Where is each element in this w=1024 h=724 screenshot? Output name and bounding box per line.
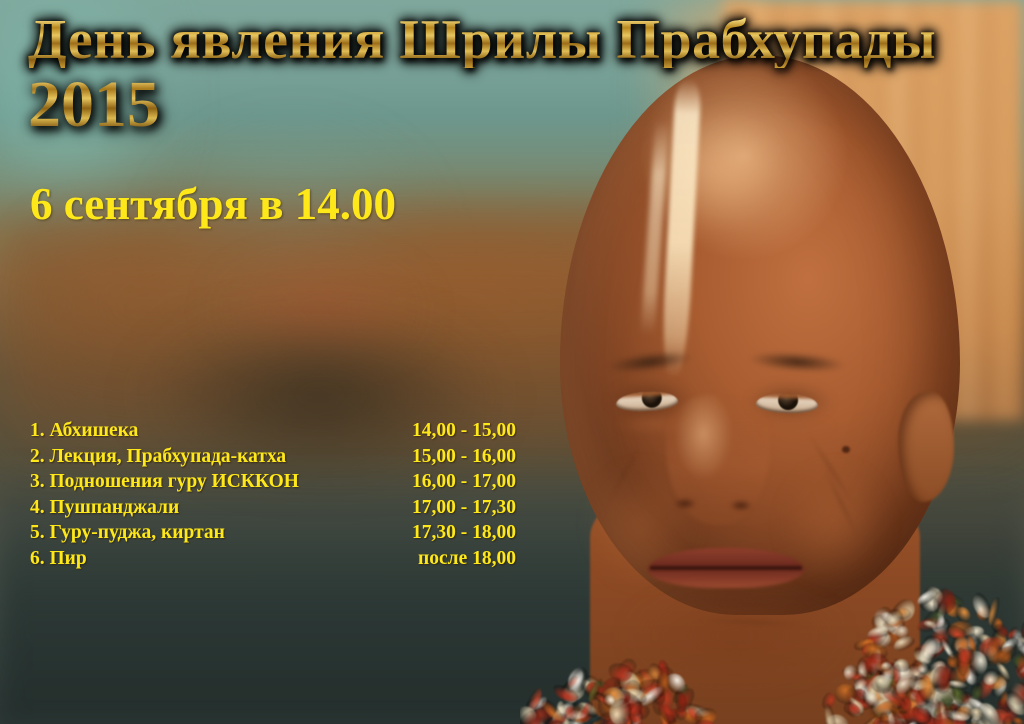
- schedule-item-label: 4. Пушпанджали: [30, 495, 179, 521]
- flower-garland: [520, 544, 1024, 724]
- schedule-item-time: 17,30 - 18,00: [412, 520, 516, 546]
- schedule-item-time: 16,00 - 17,00: [412, 469, 516, 495]
- schedule-item-label: 2. Лекция, Прабхупада-катха: [30, 444, 286, 470]
- schedule-item-time: 14,00 - 15,00: [412, 418, 516, 444]
- schedule-item-time: 15,00 - 16,00: [412, 444, 516, 470]
- datetime-label: 6 сентября в 14.00: [30, 178, 396, 230]
- schedule-row: 1. Абхишека14,00 - 15,00: [30, 418, 516, 444]
- schedule-row: 3. Подношения гуру ИСККОН16,00 - 17,00: [30, 469, 516, 495]
- year-label: 2015: [28, 72, 160, 138]
- schedule-row: 4. Пушпанджали17,00 - 17,30: [30, 495, 516, 521]
- poster-canvas: День явления Шрилы Прабхупады 2015 6 сен…: [0, 0, 1024, 724]
- schedule-item-label: 5. Гуру-пуджа, киртан: [30, 520, 225, 546]
- schedule-item-label: 1. Абхишека: [30, 418, 138, 444]
- schedule-item-label: 6. Пир: [30, 546, 87, 572]
- schedule-list: 1. Абхишека14,00 - 15,002. Лекция, Прабх…: [30, 418, 516, 571]
- page-title: День явления Шрилы Прабхупады: [28, 12, 936, 68]
- schedule-item-label: 3. Подношения гуру ИСККОН: [30, 469, 299, 495]
- nostril-left: [670, 496, 700, 511]
- schedule-row: 5. Гуру-пуджа, киртан17,30 - 18,00: [30, 520, 516, 546]
- schedule-item-time: 17,00 - 17,30: [412, 495, 516, 521]
- portrait-photo: [520, 0, 1024, 724]
- schedule-row: 2. Лекция, Прабхупада-катха15,00 - 16,00: [30, 444, 516, 470]
- ear-right: [898, 392, 954, 502]
- cheek-mole: [842, 446, 850, 453]
- schedule-row: 6. Пирпосле 18,00: [30, 546, 516, 572]
- nostril-right: [726, 498, 756, 513]
- schedule-item-time: после 18,00: [418, 546, 516, 572]
